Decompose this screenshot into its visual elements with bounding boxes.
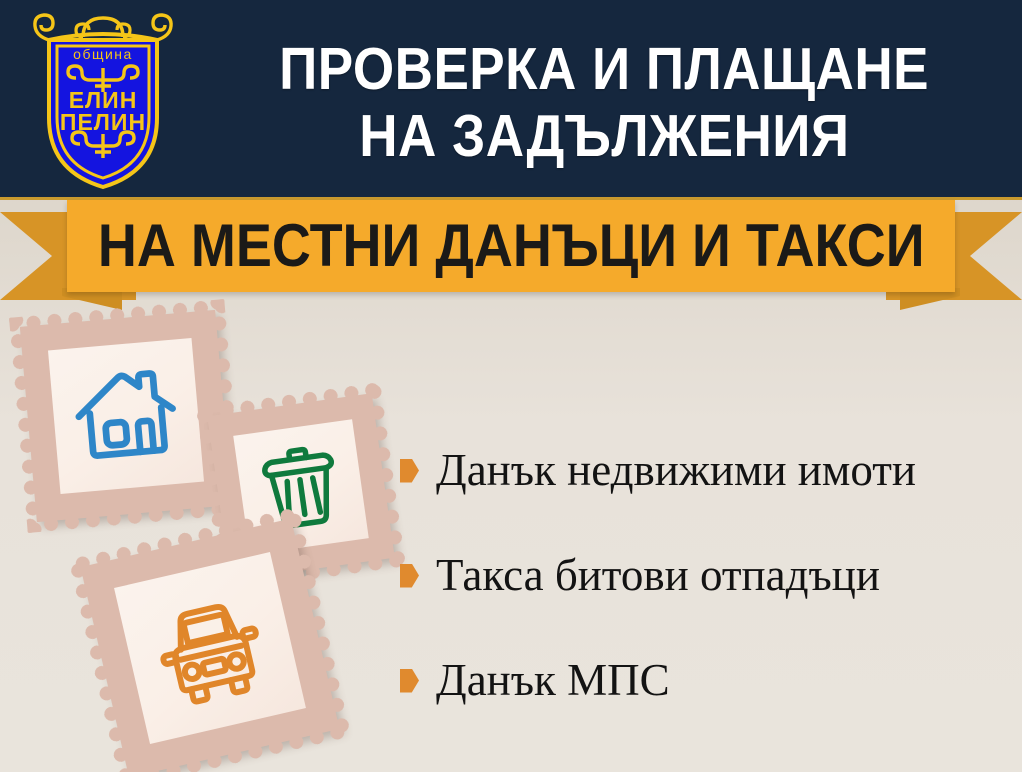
page-title-line-1: ПРОВЕРКА И ПЛАЩАНЕ — [279, 36, 929, 102]
list-item-label: Данък МПС — [436, 658, 670, 703]
list-item[interactable]: Такса битови отпадъци — [400, 523, 1010, 628]
subtitle-ribbon: НА МЕСТНИ ДАНЪЦИ И ТАКСИ — [0, 200, 1022, 312]
header-bar: община ЕЛИН ПЕЛИН ПРОВЕРКА И ПЛАЩАНЕ НА … — [0, 0, 1022, 199]
page-title-line-2: НА ЗАДЪЛЖЕНИЯ — [359, 103, 849, 169]
tax-type-list: Данък недвижими имоти Такса битови отпад… — [400, 418, 1010, 733]
crest-label-pelin: ПЕЛИН — [60, 109, 146, 135]
car-icon — [138, 576, 282, 720]
arrow-bullet-icon — [400, 564, 419, 588]
list-item-label: Такса битови отпадъци — [436, 553, 880, 598]
stamp-paper — [48, 338, 204, 494]
crest-label-obshtina: община — [73, 46, 133, 62]
stamp-paper — [114, 552, 306, 744]
list-item[interactable]: Данък МПС — [400, 628, 1010, 733]
ribbon-text: НА МЕСТНИ ДАНЪЦИ И ТАКСИ — [98, 216, 925, 276]
arrow-bullet-icon — [400, 459, 419, 483]
list-item-label: Данък недвижими имоти — [436, 448, 916, 493]
poster-root: община ЕЛИН ПЕЛИН ПРОВЕРКА И ПЛАЩАНЕ НА … — [0, 0, 1022, 772]
house-icon — [65, 355, 186, 476]
crest-svg: община ЕЛИН ПЕЛИН — [20, 6, 186, 190]
list-item[interactable]: Данък недвижими имоти — [400, 418, 1010, 523]
stamp-card-house — [20, 310, 232, 522]
arrow-bullet-icon — [400, 669, 419, 693]
municipality-crest-logo: община ЕЛИН ПЕЛИН — [20, 6, 186, 190]
header-title-block: ПРОВЕРКА И ПЛАЩАНЕ НА ЗАДЪЛЖЕНИЯ — [186, 0, 1022, 201]
ribbon-band: НА МЕСТНИ ДАНЪЦИ И ТАКСИ — [67, 200, 955, 292]
